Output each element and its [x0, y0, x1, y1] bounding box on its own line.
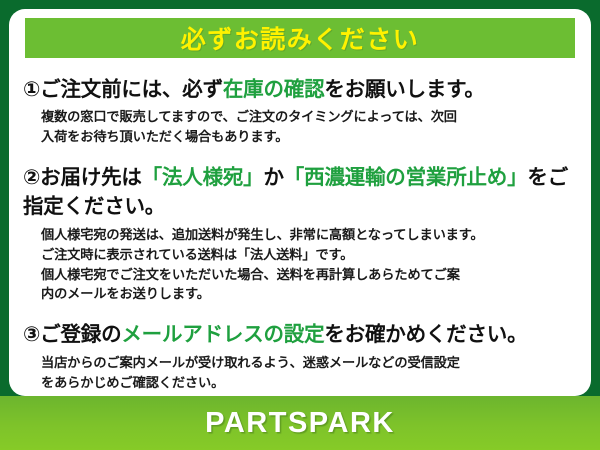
- notice-item-1-heading-part-3: をお願いします。: [324, 78, 484, 101]
- notice-item-2-heading-accent-2: 「西濃運輸の営業所止め」: [284, 166, 528, 189]
- notice-item-3-heading: ③ご登録のメールアドレスの設定をお確かめください。: [23, 320, 581, 349]
- notice-item-3-heading-accent: メールアドレスの設定: [121, 323, 324, 346]
- notice-item-2-heading-accent-1: 「法人様宛」: [142, 166, 264, 189]
- brand-footer: PARTSPARK: [0, 396, 600, 450]
- notice-item-1-body-line-2: 入荷をお待ち頂いただく場合もあります。: [41, 127, 581, 147]
- banner-title: 必ずお読みください: [181, 20, 420, 56]
- notice-item-3-body: 当店からのご案内メールが受け取れるよう、迷惑メールなどの受信設定 をあらかじめご…: [41, 353, 581, 393]
- notice-item-1-marker: ①: [23, 78, 40, 101]
- notice-item-2-body-line-1: 個人様宅宛の発送は、追加送料が発生し、非常に高額となってしまいます。: [41, 225, 581, 245]
- notice-item-1-heading-accent: 在庫の確認: [223, 78, 325, 101]
- notice-item-1-heading: ①ご注文前には、必ず在庫の確認をお願いします。: [23, 75, 581, 104]
- notice-item-3-body-line-2: をあらかじめご確認ください。: [41, 373, 581, 393]
- brand-name: PARTSPARK: [205, 407, 395, 440]
- notice-item-3: ③ご登録のメールアドレスの設定をお確かめください。 当店からのご案内メールが受け…: [9, 320, 591, 393]
- notice-item-3-marker: ③: [23, 323, 40, 346]
- notice-item-2-body-line-3: 個人様宅宛でご注文をいただいた場合、送料を再計算しあらためてご案: [41, 265, 581, 285]
- notice-item-3-body-line-1: 当店からのご案内メールが受け取れるよう、迷惑メールなどの受信設定: [41, 353, 581, 373]
- notice-banner: 必ずお読みください ①ご注文前には、必ず在庫の確認をお願いします。 複数の窓口で…: [0, 0, 600, 450]
- notice-item-1-body: 複数の窓口で販売してますので、ご注文のタイミングによっては、次回 入荷をお待ち頂…: [41, 107, 581, 147]
- notice-item-3-heading-part-1: ご登録の: [40, 323, 121, 346]
- notice-item-2-heading-part-1: お届け先は: [40, 166, 142, 189]
- notice-item-2-marker: ②: [23, 166, 40, 189]
- notice-item-2-body: 個人様宅宛の発送は、追加送料が発生し、非常に高額となってしまいます。 ご注文時に…: [41, 225, 581, 304]
- title-bar: 必ずお読みください: [25, 18, 575, 58]
- notice-item-2-heading-part-3: か: [263, 166, 283, 189]
- notice-item-1-body-line-1: 複数の窓口で販売してますので、ご注文のタイミングによっては、次回: [41, 107, 581, 127]
- notice-card: 必ずお読みください ①ご注文前には、必ず在庫の確認をお願いします。 複数の窓口で…: [9, 9, 591, 396]
- notice-item-2-body-line-4: 内のメールをお送りします。: [41, 284, 581, 304]
- notice-item-2-heading: ②お届け先は「法人様宛」か「西濃運輸の営業所止め」をご指定ください。: [23, 163, 581, 221]
- notice-item-1: ①ご注文前には、必ず在庫の確認をお願いします。 複数の窓口で販売してますので、ご…: [9, 75, 591, 147]
- notice-items-list: ①ご注文前には、必ず在庫の確認をお願いします。 複数の窓口で販売してますので、ご…: [9, 67, 591, 393]
- notice-item-3-heading-part-3: をお確かめください。: [324, 323, 527, 346]
- notice-item-2: ②お届け先は「法人様宛」か「西濃運輸の営業所止め」をご指定ください。 個人様宅宛…: [9, 163, 591, 304]
- notice-item-2-body-line-2: ご注文時に表示されている送料は「法人送料」です。: [41, 245, 581, 265]
- notice-item-1-heading-part-1: ご注文前には、必ず: [40, 78, 223, 101]
